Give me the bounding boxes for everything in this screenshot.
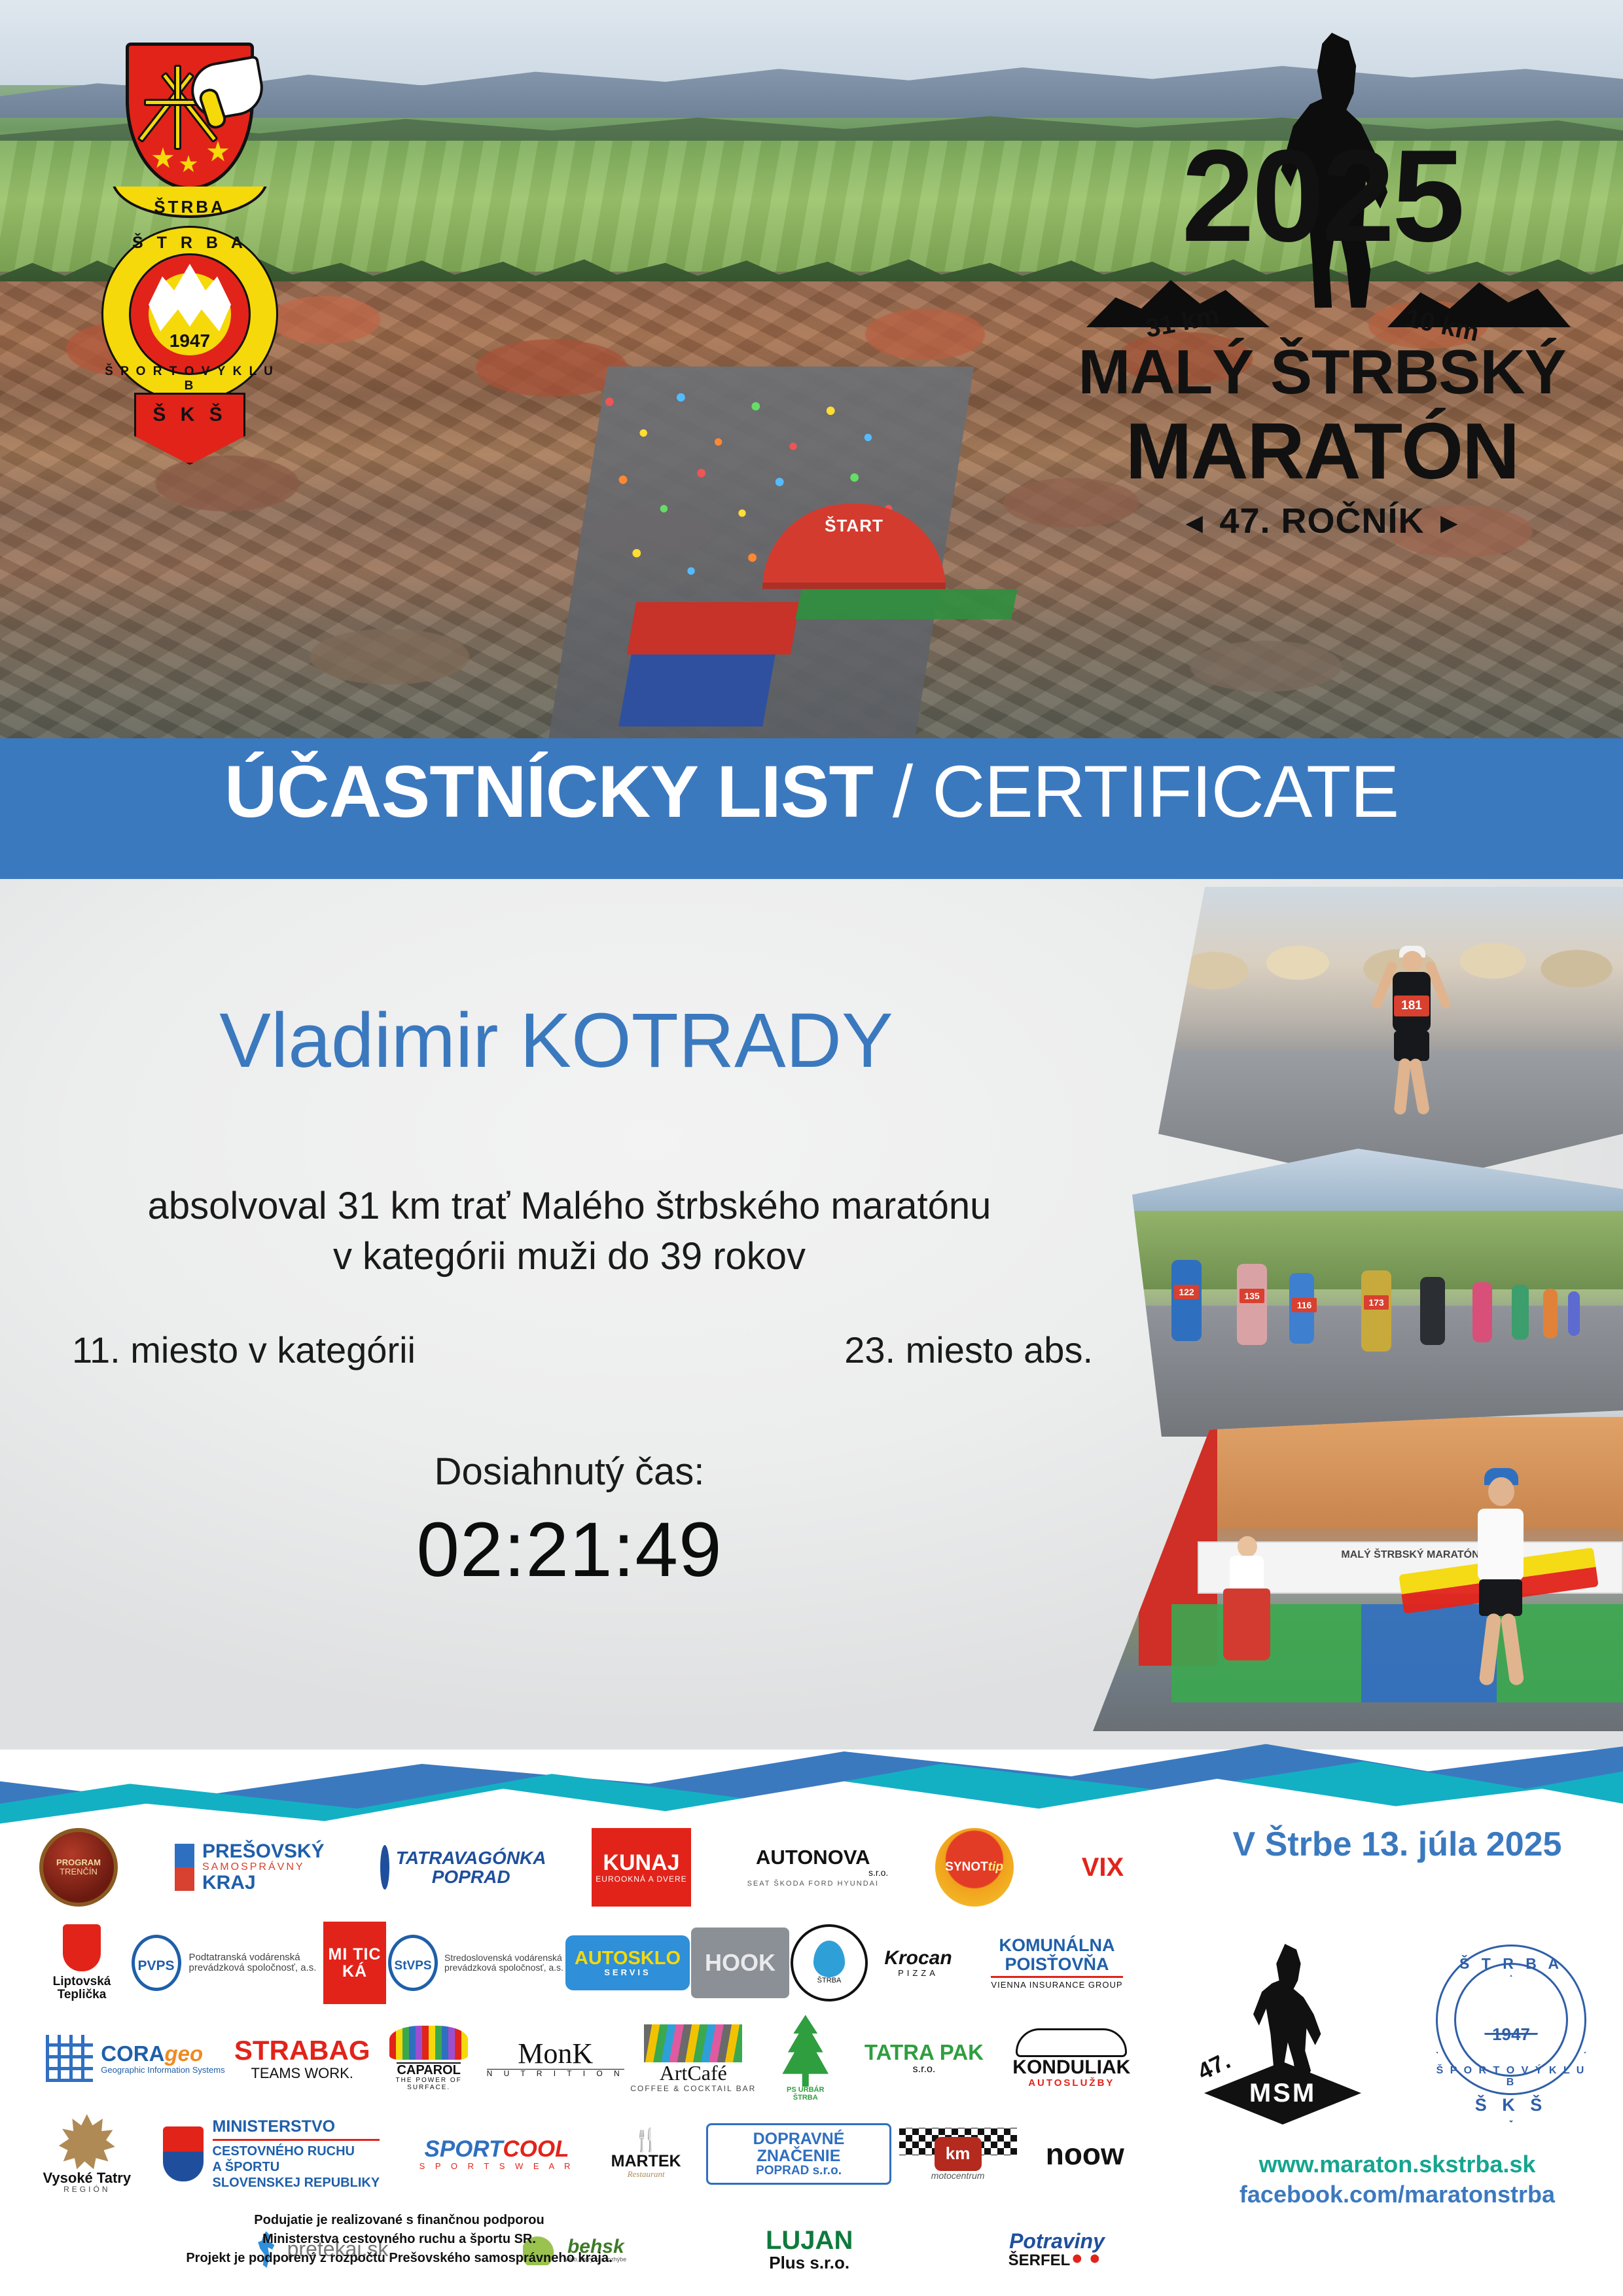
- sponsor-logo-tatrapak: TATRA PAK s.r.o.: [850, 2041, 997, 2075]
- synot-accent: tip: [988, 1861, 1003, 1874]
- sks-stamp-logo: Š T R B A 1947 Š P O R T O V Ý K L U B Š…: [1427, 1941, 1597, 2130]
- potraviny-line2: ŠERFEL: [1008, 2251, 1071, 2269]
- elephant-icon: [389, 2026, 468, 2060]
- liptovska-shield-icon: [63, 1924, 101, 1971]
- pack-runner: 135: [1237, 1264, 1267, 1345]
- sponsor-row-4: Vysoké Tatry REGIÓN MINISTERSTVO CESTOVN…: [39, 2106, 1145, 2202]
- sponsor-logo-lujan-plus: LUJAN Plus s.r.o.: [744, 2227, 875, 2272]
- msm-label: MSM: [1204, 2079, 1361, 2108]
- program-name: PROGRAM: [56, 1858, 101, 1867]
- tatravagonka-mark-icon: [380, 1845, 389, 1890]
- dopravne-line2: ZNAČENIE: [757, 2147, 841, 2164]
- sponsor-logo-hook: HOOK: [691, 1928, 789, 1998]
- sponsor-logo-strabag: STRABAG TEAMS WORK.: [232, 2036, 373, 2080]
- kunaj-sub: EUROOKNÁ A DVERE: [596, 1875, 687, 1884]
- description-line-1: absolvoval 31 km trať Malého štrbského m…: [0, 1181, 1139, 1232]
- corageo-sub: Geographic Information Systems: [101, 2066, 224, 2075]
- dopravne-line1: DOPRAVNÉ: [753, 2130, 845, 2147]
- artcafe-sub: COFFEE & COCKTAIL BAR: [630, 2085, 756, 2093]
- description-line-2: v kategórii muži do 39 rokov: [0, 1232, 1139, 1282]
- strabag-name: STRABAG: [234, 2036, 370, 2065]
- race-year: 2025: [1060, 131, 1584, 262]
- race-branding: 2025 31 km 10 km MALÝ ŠTRBSKÝ MARATÓN ◄ …: [1060, 33, 1584, 583]
- pack-runner: [1472, 1282, 1492, 1342]
- sponsor-logo-konduliak: KONDULIAK AUTOSLUŽBY: [998, 2028, 1145, 2088]
- tatravagonka-text: TATRAVAGÓNKA POPRAD: [396, 1848, 546, 1887]
- psurbar-line2: ŠTRBA: [793, 2094, 818, 2102]
- kmmoto-name: km: [935, 2137, 982, 2171]
- photo3-winner-runner: [1453, 1450, 1551, 1712]
- monk-sub: N U T R I T I O N: [487, 2069, 624, 2078]
- runner-head: [1402, 951, 1423, 972]
- girl-blouse: [1230, 1556, 1264, 1592]
- martek-sub: Restaurant: [628, 2170, 665, 2179]
- winner-shorts: [1479, 1579, 1522, 1616]
- girl-skirt: [1223, 1588, 1270, 1660]
- stvps-line2: prevádzková spoločnosť, a.s.: [444, 1963, 563, 1973]
- facebook-url[interactable]: facebook.com/maratonstrba: [1171, 2181, 1623, 2208]
- stvps-line1: Stredoslovenská vodárenská: [444, 1953, 563, 1963]
- corageo-text: CORAgeo Geographic Information Systems: [101, 2043, 224, 2074]
- sponsor-row-1: PROGRAM TRENČÍN PREŠOVSKÝ SAMOSPRÁVNY KR…: [39, 1820, 1145, 1915]
- footnote-line-3: Projekt je podporený z rozpočtu Prešovsk…: [39, 2249, 759, 2268]
- sponsor-logo-noow: noow: [1025, 2138, 1145, 2170]
- green-finish-mat: [795, 589, 1018, 619]
- winner-leg-left: [1478, 1613, 1501, 1686]
- autosklo-sub: SERVIS: [604, 1968, 651, 1977]
- ministerstvo-line3: A ŠPORTU: [213, 2159, 380, 2175]
- cutlery-icon: 🍴: [632, 2129, 660, 2153]
- arrow-right-icon: ►: [1435, 507, 1465, 539]
- place-in-category: 11. miesto v kategórii: [72, 1329, 416, 1371]
- ministerstvo-line1: MINISTERSTVO: [213, 2117, 380, 2141]
- dopravne-line3: POPRAD s.r.o.: [756, 2164, 842, 2178]
- corageo-grid-icon: [46, 2035, 93, 2082]
- sponsor-logo-kunaj: KUNAJ EUROOKNÁ A DVERE: [592, 1828, 691, 1907]
- tatrapak-sub: s.r.o.: [913, 2064, 936, 2075]
- sponsor-area: PROGRAM TRENČÍN PREŠOVSKÝ SAMOSPRÁVNY KR…: [0, 1813, 1171, 2232]
- staff-center-icon: [174, 65, 181, 150]
- stvps-abbr: StVPS: [388, 1935, 438, 1991]
- corageo-name: CORA: [101, 2041, 164, 2066]
- msm-logo: 47. MSM: [1198, 1944, 1368, 2127]
- presov-line1: PREŠOVSKÝ: [202, 1841, 325, 1862]
- sponsor-logo-liptovska-teplicka: Liptovská Teplička: [39, 1924, 124, 2001]
- funding-footnote: Podujatie je realizované s finančnou pod…: [39, 2211, 759, 2268]
- konduliak-name: KONDULIAK: [1012, 2057, 1130, 2078]
- photo-collage: 181 122 135 116 173 M: [1093, 887, 1623, 1738]
- title-bold-part: ÚČASTNÍCKY LIST: [224, 751, 873, 833]
- sportcool-sub: S P O R T S W E A R: [419, 2162, 575, 2171]
- right-info-column: V Štrbe 13. júla 2025 47. MSM Š T R B A …: [1171, 1813, 1623, 2271]
- stamp-top-label: Š T R B A: [1436, 1955, 1586, 1973]
- title-band: ÚČASTNÍCKY LIST / CERTIFICATE: [0, 738, 1623, 879]
- footnote-line-1: Podujatie je realizované s finančnou pod…: [39, 2211, 759, 2230]
- sponsor-logo-vysoke-tatry: Vysoké Tatry REGIÓN: [39, 2114, 135, 2194]
- girl-head: [1238, 1536, 1257, 1557]
- sponsor-row-3: CORAgeo Geographic Information Systems S…: [39, 2011, 1145, 2106]
- runner-leg-left: [1394, 1058, 1412, 1115]
- sponsor-logo-stvps: StVPS Stredoslovenská vodárenská prevádz…: [387, 1935, 564, 1991]
- sponsor-logo-krocan-pizza: Krocan PIZZA: [869, 1948, 967, 1977]
- martek-name: MARTEK: [611, 2153, 681, 2170]
- sportcool-name1: SPORT: [424, 2136, 503, 2162]
- sponsor-logo-autosklo-servis: AUTOSKLO SERVIS: [565, 1935, 690, 1990]
- car-icon: [1016, 2028, 1127, 2057]
- winner-leg-right: [1500, 1613, 1524, 1686]
- pvps-line1: Podtatranská vodárenská: [189, 1952, 317, 1963]
- sks-club-emblem: Š T R B A 1947 Š P O R T O V Ý K L U B: [101, 226, 278, 403]
- monk-name: MonK: [518, 2039, 593, 2069]
- sponsor-row-2: Liptovská Teplička PVPS Podtatranská vod…: [39, 1915, 1145, 2011]
- photo2-runner-pack: 122 135 116 173: [1158, 1253, 1603, 1384]
- stvps-text: Stredoslovenská vodárenská prevádzková s…: [444, 1953, 563, 1972]
- ministerstvo-line4: SLOVENSKEJ REPUBLIKY: [213, 2175, 380, 2191]
- pvps-abbr: PVPS: [132, 1935, 181, 1991]
- kunaj-name: KUNAJ: [603, 1852, 679, 1875]
- footnote-line-2: Ministerstva cestovného ruchu a športu S…: [39, 2230, 759, 2249]
- komunalna-line2: POISŤOVŇA: [1005, 1955, 1109, 1973]
- lujan-line1: LUJAN: [766, 2227, 853, 2254]
- winner-vest: [1478, 1509, 1524, 1581]
- presov-flag-icon: [175, 1844, 194, 1891]
- finish-time-value: 02:21:49: [0, 1505, 1139, 1594]
- liptovska-line1: Liptovská: [53, 1975, 111, 1988]
- sponsor-logo-pvps: PVPS Podtatranská vodárenská prevádzková…: [126, 1935, 322, 1991]
- autonova-brands: SEAT ŠKODA FORD HYUNDAI: [747, 1880, 879, 1888]
- mountain-separator: [0, 1702, 1623, 1826]
- tatrapak-name: TATRA PAK: [865, 2041, 984, 2064]
- sponsor-logo-sportcool: SPORTCOOL S P O R T S W E A R: [408, 2138, 586, 2170]
- arrow-left-icon: ◄: [1180, 507, 1209, 539]
- hook-name: HOOK: [705, 1950, 776, 1975]
- stamp-year-label: 1947: [1454, 2024, 1568, 2045]
- corageo-accent: geo: [164, 2041, 203, 2066]
- stamp-bottom-label: Š K Š: [1436, 2095, 1586, 2115]
- winner-head: [1488, 1477, 1514, 1506]
- chamois-icon: [59, 2114, 115, 2170]
- pack-runner: [1543, 1289, 1558, 1338]
- tatravagonka-line2: POPRAD: [396, 1867, 546, 1886]
- sponsor-logo-tatravagonka: TATRAVAGÓNKA POPRAD: [382, 1845, 545, 1890]
- athlete-name: Vladimir KOTRADY: [0, 996, 1113, 1085]
- presov-line3: KRAJ: [202, 1873, 325, 1893]
- race-edition-label: ◄ 47. ROČNÍK ►: [1060, 501, 1584, 541]
- program-sub: TRENČÍN: [60, 1867, 98, 1876]
- crest-ribbon-label: ŠTRBA: [111, 197, 268, 217]
- sponsor-logo-ps-urbar-strba: PS URBÁR ŠTRBA: [760, 2015, 850, 2102]
- title-band-text: ÚČASTNÍCKY LIST / CERTIFICATE: [0, 755, 1623, 829]
- caparol-name: CAPAROL: [397, 2062, 460, 2077]
- photo1-runner: 181: [1374, 933, 1446, 1129]
- artcafe-bars-icon: [644, 2024, 742, 2062]
- event-date: V Štrbe 13. júla 2025: [1171, 1825, 1623, 1864]
- pvps-text: Podtatranská vodárenská prevádzková spol…: [189, 1952, 317, 1973]
- sponsor-logo-caparol: CAPAROL THE POWER OF SURFACE.: [372, 2026, 484, 2091]
- sponsor-logo-presovsky-kraj: PREŠOVSKÝ SAMOSPRÁVNY KRAJ: [164, 1841, 334, 1893]
- sponsor-logo-artcafe: ArtCafé COFFEE & COCKTAIL BAR: [626, 2024, 760, 2092]
- corageo-name-row: CORAgeo: [101, 2043, 224, 2066]
- potraviny-line2-row: ŠERFEL: [1008, 2252, 1106, 2269]
- sponsor-logo-corageo: CORAgeo Geographic Information Systems: [39, 2035, 232, 2082]
- water-drop-icon: [813, 1941, 845, 1977]
- sponsor-logo-monk-nutrition: MonK N U T R I T I O N: [485, 2039, 626, 2078]
- photo-finishing-female-runner: 181: [1158, 887, 1623, 1188]
- pack-bib: 135: [1240, 1289, 1264, 1303]
- sponsor-logo-synottip: SYNOTtip: [935, 1828, 1014, 1907]
- pack-runner: [1420, 1277, 1445, 1345]
- runner-leg-right: [1409, 1058, 1431, 1115]
- artcafe-name: ArtCafé: [660, 2062, 727, 2085]
- website-url[interactable]: www.maraton.skstrba.sk: [1171, 2151, 1623, 2178]
- pvps-line2: prevádzková spoločnosť, a.s.: [189, 1963, 317, 1973]
- sponsor-logo-vix: VIX: [1060, 1828, 1145, 1907]
- komunalna-line1: KOMUNÁLNA: [999, 1936, 1115, 1954]
- presov-line2: SAMOSPRÁVNY: [202, 1862, 325, 1873]
- sponsor-logo-komunalna-poistovna: KOMUNÁLNA POISŤOVŇA VIENNA INSURANCE GRO…: [969, 1936, 1145, 1989]
- tree-icon: [778, 2015, 833, 2087]
- certificate-page: ŠTART ŠTRBA Š T R B A 1947 Š P O R T O V…: [0, 0, 1623, 2296]
- sponsor-logo-km-motocentrum: km motocentrum: [891, 2128, 1025, 2181]
- sportcool-name-row: SPORTCOOL: [424, 2138, 569, 2162]
- lujan-line2: Plus s.r.o.: [769, 2254, 849, 2272]
- krocan-name: Krocan: [884, 1948, 952, 1969]
- sponsor-logo-dopravne-znacenie: DOPRAVNÉ ZNAČENIE POPRAD s.r.o.: [706, 2123, 891, 2185]
- place-absolute: 23. miesto abs.: [844, 1329, 1093, 1371]
- vix-name: VIX: [1082, 1854, 1124, 1881]
- pack-runner: 173: [1361, 1270, 1391, 1352]
- race-edition-text: 47. ROČNÍK: [1219, 501, 1424, 541]
- sportcool-name2: COOL: [503, 2136, 569, 2162]
- vysoke-name: Vysoké Tatry: [43, 2170, 132, 2185]
- pack-bib: 116: [1292, 1298, 1317, 1312]
- vysoke-sub: REGIÓN: [63, 2185, 110, 2194]
- potraviny-line1: Potraviny: [1009, 2231, 1105, 2253]
- red-tent: [627, 602, 800, 655]
- emblem-bottom-label: Š P O R T O V Ý K L U B: [101, 365, 278, 393]
- emblem-top-label: Š T R B A: [101, 234, 278, 253]
- blue-tent: [618, 655, 775, 726]
- potraviny-dots-icon: [1070, 2252, 1105, 2265]
- pack-runner: 122: [1171, 1260, 1202, 1341]
- runner-shorts: [1394, 1031, 1429, 1061]
- pack-runner: 116: [1289, 1273, 1314, 1344]
- urbar-line2: ŠTRBA: [817, 1977, 842, 1985]
- autosklo-name: AUTOSKLO: [575, 1948, 681, 1968]
- kmmoto-sub: motocentrum: [931, 2171, 985, 2181]
- noow-name: noow: [1046, 2138, 1124, 2170]
- pack-runner: [1568, 1291, 1580, 1336]
- sponsor-logo-urbar-strba: ŠTRBA: [791, 1924, 868, 2001]
- photo3-folk-costume-girl: [1221, 1528, 1273, 1672]
- caparol-sub: THE POWER OF SURFACE.: [372, 2077, 484, 2091]
- emblem-year-label: 1947: [101, 331, 278, 351]
- komunalna-line3: VIENNA INSURANCE GROUP: [991, 1976, 1122, 1990]
- pack-runner: [1512, 1285, 1529, 1340]
- synot-name: SYNOT: [945, 1861, 988, 1874]
- sponsor-logo-autonova: AUTONOVA s.r.o. SEAT ŠKODA FORD HYUNDAI: [738, 1847, 888, 1888]
- ministerstvo-text: MINISTERSTVO CESTOVNÉHO RUCHU A ŠPORTU S…: [213, 2117, 380, 2191]
- sponsor-logo-ministerstvo: MINISTERSTVO CESTOVNÉHO RUCHU A ŠPORTU S…: [135, 2117, 408, 2191]
- finish-time-label: Dosiahnutý čas:: [0, 1450, 1139, 1494]
- strba-coat-of-arms: ŠTRBA: [111, 36, 268, 226]
- msm-runner-icon: [1253, 1944, 1325, 2085]
- autonova-sub: s.r.o.: [868, 1868, 888, 1878]
- sponsor-logo-potraviny-serfel: Potraviny ŠERFEL: [969, 2231, 1145, 2269]
- certificate-description: absolvoval 31 km trať Malého štrbského m…: [0, 1181, 1139, 1282]
- liptovska-line2: Teplička: [58, 1988, 107, 2001]
- sponsor-logo-program-trencin: PROGRAM TRENČÍN: [39, 1828, 118, 1907]
- photo3-building: [1191, 1417, 1623, 1528]
- start-arch-label: ŠTART: [825, 516, 883, 536]
- strabag-sub: TEAMS WORK.: [251, 2066, 353, 2081]
- ministerstvo-line2: CESTOVNÉHO RUCHU: [213, 2144, 380, 2159]
- miticka-name: MI TIC KÁ: [323, 1946, 386, 1981]
- pack-bib: 173: [1364, 1295, 1389, 1310]
- runner-bib-number: 181: [1394, 996, 1429, 1016]
- sks-tail-label: Š K Š: [136, 395, 243, 426]
- title-light-part: / CERTIFICATE: [873, 751, 1399, 833]
- sponsor-logo-miticka: MI TIC KÁ: [323, 1922, 386, 2004]
- race-title-line2: MARATÓN: [1060, 411, 1584, 491]
- race-title-line1: MALÝ ŠTRBSKÝ: [1060, 340, 1584, 404]
- sponsor-logo-martek-restaurant: 🍴 MARTEK Restaurant: [586, 2129, 706, 2179]
- photo-runner-pack-on-hill: 122 135 116 173: [1132, 1149, 1623, 1437]
- presov-text: PREŠOVSKÝ SAMOSPRÁVNY KRAJ: [202, 1841, 325, 1893]
- photo-finish-line-winner: MALÝ ŠTRBSKÝ MARATÓN: [1093, 1410, 1623, 1731]
- konduliak-sub: AUTOSLUŽBY: [1028, 2078, 1115, 2089]
- tatravagonka-line1: TATRAVAGÓNKA: [396, 1848, 546, 1867]
- pack-bib: 122: [1174, 1285, 1199, 1299]
- slovakia-shield-icon: [163, 2126, 204, 2181]
- krocan-sub: PIZZA: [898, 1969, 938, 1978]
- autonova-name: AUTONOVA: [756, 1847, 870, 1869]
- placement-row: 11. miesto v kategórii 23. miesto abs.: [72, 1329, 1093, 1371]
